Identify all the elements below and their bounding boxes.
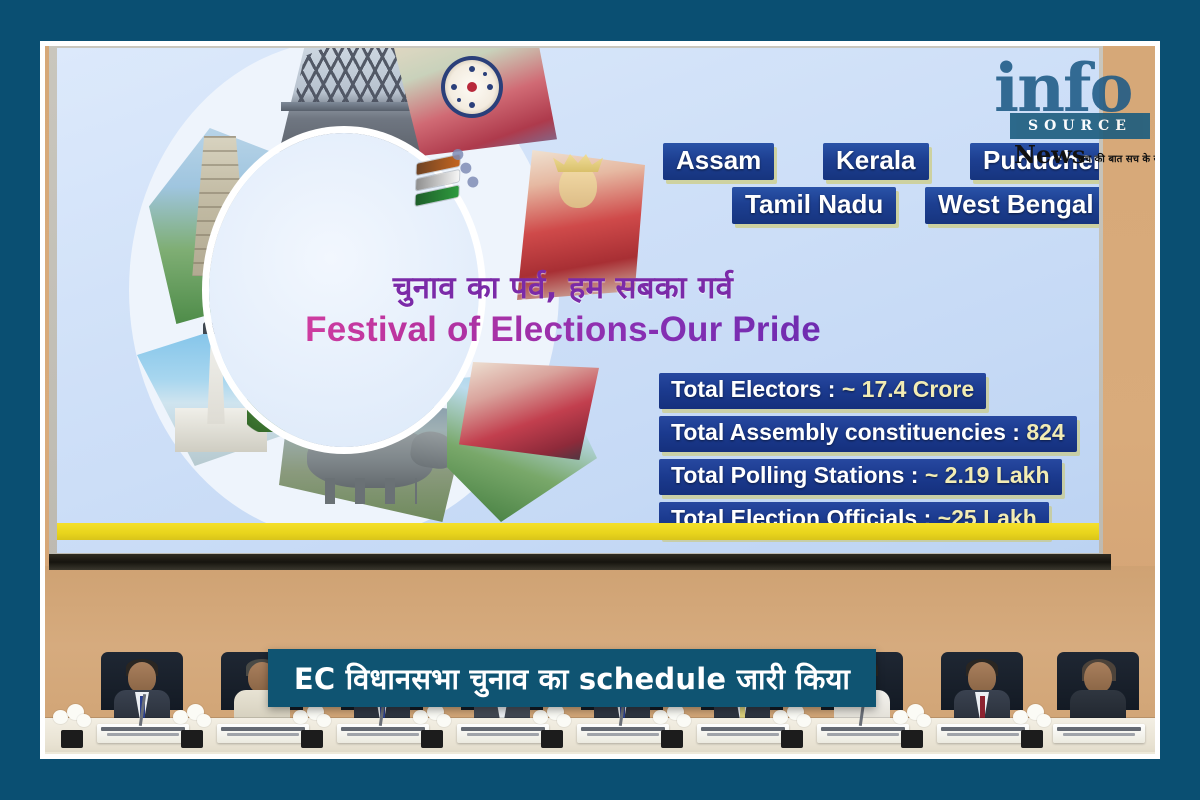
flower-arrangement xyxy=(49,702,95,742)
vase xyxy=(181,730,203,748)
stat-label: Total Electors : xyxy=(671,376,842,402)
projection-screen: चुनाव का पर्व, हम सबका गर्व Festival of … xyxy=(57,48,1099,553)
panelist xyxy=(954,662,1010,726)
screen-bottom-frame xyxy=(49,554,1111,570)
stat-label: Total Assembly constituencies : xyxy=(671,419,1026,445)
dais-table-front xyxy=(45,752,1155,754)
eci-dot xyxy=(459,162,472,175)
slide-bottom-band xyxy=(57,523,1099,540)
flower-arrangement xyxy=(1009,702,1055,742)
head xyxy=(1084,662,1112,693)
flower-arrangement xyxy=(289,702,335,742)
eci-ballot-bars xyxy=(415,154,462,209)
state-chip-puducherry: Puducherry xyxy=(970,143,1099,180)
folk-dance-photo-3 xyxy=(459,362,599,460)
stat-total-assembly-constituencies: Total Assembly constituencies : 824 xyxy=(659,416,1077,452)
vase xyxy=(901,730,923,748)
slogan-hindi: चुनाव का पर्व, हम सबका गर्व xyxy=(283,266,843,308)
stat-value: 824 xyxy=(1026,419,1064,445)
state-chip-kerala: Kerala xyxy=(823,143,929,180)
state-chip-west-bengal: West Bengal xyxy=(925,187,1099,224)
flower-arrangement xyxy=(409,702,455,742)
press-conference-photo: चुनाव का पर्व, हम सबका गर्व Festival of … xyxy=(45,46,1155,754)
state-chip-assam: Assam xyxy=(663,143,774,180)
tie xyxy=(980,696,985,720)
vase xyxy=(1021,730,1043,748)
vase xyxy=(301,730,323,748)
flower-arrangement xyxy=(169,702,215,742)
state-chip-tamil-nadu: Tamil Nadu xyxy=(732,187,896,224)
slogan-english: Festival of Elections-Our Pride xyxy=(283,310,843,350)
projection-screen-frame: चुनाव का पर्व, हम सबका गर्व Festival of … xyxy=(49,46,1103,566)
photo-card-frame: चुनाव का पर्व, हम सबका गर्व Festival of … xyxy=(40,41,1160,759)
eci-dot xyxy=(466,175,479,188)
flower-arrangement xyxy=(769,702,815,742)
vase xyxy=(61,730,83,748)
headline-banner: EC विधानसभा चुनाव का schedule जारी किया xyxy=(268,649,876,707)
vase xyxy=(781,730,803,748)
stat-total-electors: Total Electors : ~ 17.4 Crore xyxy=(659,373,986,409)
stat-value: ~ 17.4 Crore xyxy=(842,376,974,402)
screenshot-root: चुनाव का पर्व, हम सबका गर्व Festival of … xyxy=(0,0,1200,800)
vase xyxy=(541,730,563,748)
head xyxy=(968,662,996,693)
vase xyxy=(661,730,683,748)
stat-value: ~ 2.19 Lakh xyxy=(925,462,1050,488)
head xyxy=(128,662,156,693)
stat-total-polling-stations: Total Polling Stations : ~ 2.19 Lakh xyxy=(659,459,1062,495)
vase xyxy=(421,730,443,748)
flower-arrangement xyxy=(889,702,935,742)
rhino-legs xyxy=(325,478,417,504)
folk-dance-prop xyxy=(441,56,503,118)
nameplate xyxy=(1053,724,1145,743)
stat-label: Total Polling Stations : xyxy=(671,462,925,488)
panelist xyxy=(1070,662,1126,726)
flower-arrangement xyxy=(649,702,695,742)
headline-text: EC विधानसभा चुनाव का schedule जारी किया xyxy=(294,659,850,698)
flower-arrangement xyxy=(529,702,575,742)
